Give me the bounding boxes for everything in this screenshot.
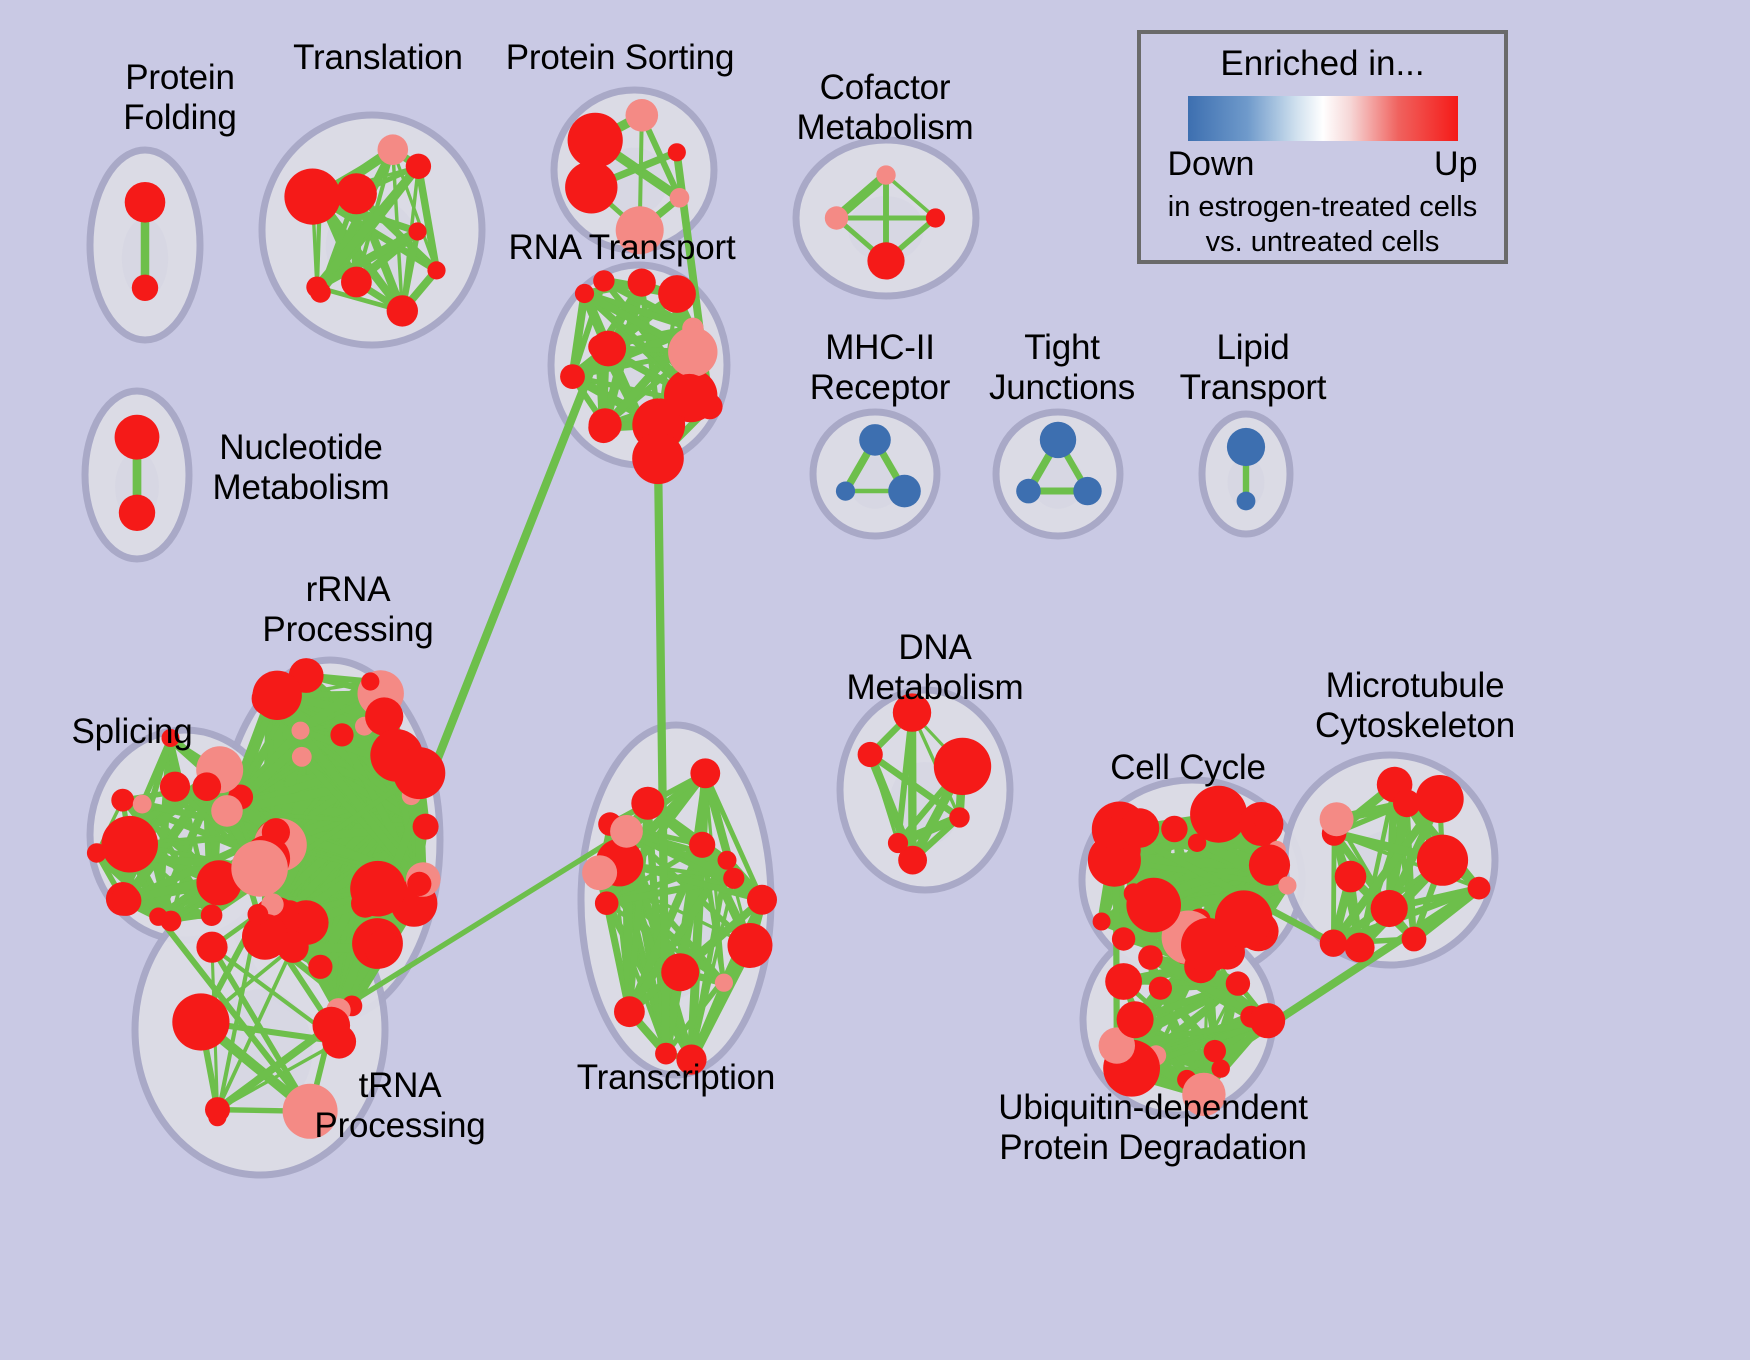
gene-set-node[interactable] <box>1161 816 1187 842</box>
gene-set-node[interactable] <box>867 242 904 279</box>
gene-set-node[interactable] <box>306 277 327 298</box>
gene-set-node[interactable] <box>1105 963 1142 1000</box>
gene-set-node[interactable] <box>593 270 614 291</box>
gene-set-node[interactable] <box>728 923 773 968</box>
gene-set-node[interactable] <box>119 495 155 531</box>
gene-set-node[interactable] <box>1124 883 1144 903</box>
cluster-label: Cofactor Metabolism <box>780 68 990 148</box>
gene-set-node[interactable] <box>1093 913 1111 931</box>
gene-set-node[interactable] <box>133 795 152 814</box>
gene-set-node[interactable] <box>1416 775 1464 823</box>
gene-set-node[interactable] <box>670 188 690 208</box>
cluster-label: Cell Cycle <box>1098 748 1278 788</box>
gene-set-node[interactable] <box>350 861 406 917</box>
gene-set-node[interactable] <box>330 723 353 746</box>
gene-set-node[interactable] <box>595 891 619 915</box>
gene-set-node[interactable] <box>1149 977 1172 1000</box>
gene-set-node[interactable] <box>205 1097 230 1122</box>
gene-set-node[interactable] <box>668 327 717 376</box>
gene-set-node[interactable] <box>747 885 777 915</box>
gene-set-node[interactable] <box>393 747 445 799</box>
gene-set-node[interactable] <box>836 482 855 501</box>
gene-set-node[interactable] <box>858 742 883 767</box>
gene-set-node[interactable] <box>101 816 158 873</box>
legend-endpoint-labels: Down Up <box>1168 145 1478 184</box>
legend-caption-line-1: in estrogen-treated cells <box>1168 190 1478 225</box>
gene-set-node[interactable] <box>582 855 617 890</box>
cluster-label: RNA Transport <box>502 228 742 268</box>
cluster-label: Transcription <box>566 1058 786 1098</box>
gene-set-node[interactable] <box>407 872 431 896</box>
gene-set-node[interactable] <box>1181 918 1235 972</box>
gene-set-node[interactable] <box>111 885 142 916</box>
gene-set-node[interactable] <box>211 795 243 827</box>
gene-set-node[interactable] <box>628 269 656 297</box>
gene-set-node[interactable] <box>1345 933 1375 963</box>
gene-set-node[interactable] <box>667 374 711 418</box>
enrichment-map-figure: Protein FoldingTranslationProtein Sortin… <box>0 0 1750 1360</box>
gene-set-node[interactable] <box>1468 877 1491 900</box>
gene-set-node[interactable] <box>926 208 945 227</box>
cluster-label: Translation <box>278 38 478 78</box>
gene-set-node[interactable] <box>632 433 684 485</box>
gene-set-node[interactable] <box>825 206 848 229</box>
gene-set-node[interactable] <box>715 974 733 992</box>
gene-set-node[interactable] <box>406 154 431 179</box>
gene-set-node[interactable] <box>313 1007 351 1045</box>
legend-low-label: Down <box>1168 145 1255 184</box>
gene-set-node[interactable] <box>1402 927 1427 952</box>
gene-set-node[interactable] <box>888 833 908 853</box>
gene-set-node[interactable] <box>1254 808 1276 830</box>
gene-set-node[interactable] <box>560 364 585 389</box>
gene-set-node[interactable] <box>1278 876 1296 894</box>
gene-set-node[interactable] <box>1117 1001 1154 1038</box>
gene-set-node[interactable] <box>201 904 223 926</box>
gene-set-node[interactable] <box>1073 477 1101 505</box>
cluster-label: Protein Sorting <box>500 38 740 78</box>
gene-set-node[interactable] <box>1016 479 1041 504</box>
gene-set-node[interactable] <box>631 787 664 820</box>
cluster-label: Microtubule Cytoskeleton <box>1300 666 1530 746</box>
gene-set-node[interactable] <box>284 169 340 225</box>
cluster-label: Protein Folding <box>85 58 275 138</box>
gene-set-node[interactable] <box>361 672 379 690</box>
gene-set-node[interactable] <box>336 173 377 214</box>
gene-set-node[interactable] <box>378 134 409 165</box>
gene-set-node[interactable] <box>1320 930 1347 957</box>
gene-set-node[interactable] <box>1227 428 1265 466</box>
gene-set-node[interactable] <box>172 993 229 1050</box>
cluster-label: DNA Metabolism <box>810 628 1060 708</box>
gene-set-node[interactable] <box>949 807 969 827</box>
gene-set-node[interactable] <box>934 738 991 795</box>
gene-set-node[interactable] <box>668 143 686 161</box>
gene-set-node[interactable] <box>1371 890 1408 927</box>
gene-set-node[interactable] <box>1190 786 1247 843</box>
gene-set-node[interactable] <box>160 772 190 802</box>
legend-caption-line-2: vs. untreated cells <box>1168 225 1478 260</box>
gene-set-node[interactable] <box>413 814 439 840</box>
gene-set-node[interactable] <box>575 284 594 303</box>
legend-high-label: Up <box>1434 145 1477 184</box>
cluster-label: Ubiquitin-dependent Protein Degradation <box>988 1088 1318 1168</box>
gene-set-node[interactable] <box>888 475 921 508</box>
gene-set-node[interactable] <box>658 275 696 313</box>
gene-set-node[interactable] <box>614 996 645 1027</box>
gene-set-node[interactable] <box>1320 802 1354 836</box>
cluster-label: Lipid Transport <box>1168 328 1338 408</box>
gene-set-node[interactable] <box>588 413 619 444</box>
gene-set-node[interactable] <box>1237 492 1256 511</box>
gene-set-node[interactable] <box>1112 927 1135 950</box>
gene-set-node[interactable] <box>427 261 445 279</box>
gene-set-node[interactable] <box>568 113 623 168</box>
gene-set-node[interactable] <box>1335 861 1367 893</box>
gene-set-node[interactable] <box>253 671 302 720</box>
gene-set-node[interactable] <box>1040 422 1076 458</box>
cluster-label: tRNA Processing <box>300 1066 500 1146</box>
gene-set-node[interactable] <box>292 747 312 767</box>
edge <box>1333 833 1334 943</box>
gene-set-node[interactable] <box>87 843 107 863</box>
color-scale-gradient <box>1188 96 1458 141</box>
gene-set-node[interactable] <box>115 415 160 460</box>
gene-set-node[interactable] <box>193 772 222 801</box>
gene-set-node[interactable] <box>387 295 418 326</box>
gene-set-node[interactable] <box>690 758 720 788</box>
gene-set-node[interactable] <box>161 911 182 932</box>
gene-set-node[interactable] <box>1138 945 1163 970</box>
gene-set-node[interactable] <box>365 930 401 966</box>
gene-set-node[interactable] <box>408 222 426 240</box>
cluster-label: Nucleotide Metabolism <box>196 428 406 508</box>
gene-set-node[interactable] <box>308 955 332 979</box>
gene-set-node[interactable] <box>1417 835 1468 886</box>
gene-set-node[interactable] <box>590 331 626 367</box>
gene-set-node[interactable] <box>1116 1062 1136 1082</box>
gene-set-node[interactable] <box>277 931 309 963</box>
cluster-label: rRNA Processing <box>248 570 448 650</box>
cluster-label: Splicing <box>52 712 212 752</box>
gene-set-node[interactable] <box>718 851 737 870</box>
cluster-label: Tight Junctions <box>982 328 1142 408</box>
gene-set-node[interactable] <box>196 932 227 963</box>
legend-caption: in estrogen-treated cells vs. untreated … <box>1168 190 1478 260</box>
gene-set-node[interactable] <box>689 832 715 858</box>
gene-set-node[interactable] <box>1250 1003 1285 1038</box>
cluster-label: MHC-II Receptor <box>790 328 970 408</box>
gene-set-node[interactable] <box>1204 1040 1226 1062</box>
gene-set-node[interactable] <box>1226 971 1250 995</box>
gene-set-node[interactable] <box>723 868 744 889</box>
gene-set-node[interactable] <box>231 840 288 897</box>
gene-set-node[interactable] <box>876 165 895 184</box>
gene-set-node[interactable] <box>132 275 158 301</box>
gene-set-node[interactable] <box>125 182 166 223</box>
legend-box: Enriched in... Down Up in estrogen-treat… <box>1137 30 1508 264</box>
gene-set-node[interactable] <box>661 953 699 991</box>
gene-set-node[interactable] <box>565 161 617 213</box>
legend-title: Enriched in... <box>1220 44 1424 84</box>
gene-set-node[interactable] <box>626 99 659 132</box>
gene-set-node[interactable] <box>859 424 891 456</box>
gene-set-node[interactable] <box>111 789 134 812</box>
gene-set-node[interactable] <box>292 722 310 740</box>
gene-set-node[interactable] <box>610 815 643 848</box>
gene-set-node[interactable] <box>248 904 269 925</box>
gene-set-node[interactable] <box>341 267 372 298</box>
gene-set-node[interactable] <box>1120 808 1159 847</box>
